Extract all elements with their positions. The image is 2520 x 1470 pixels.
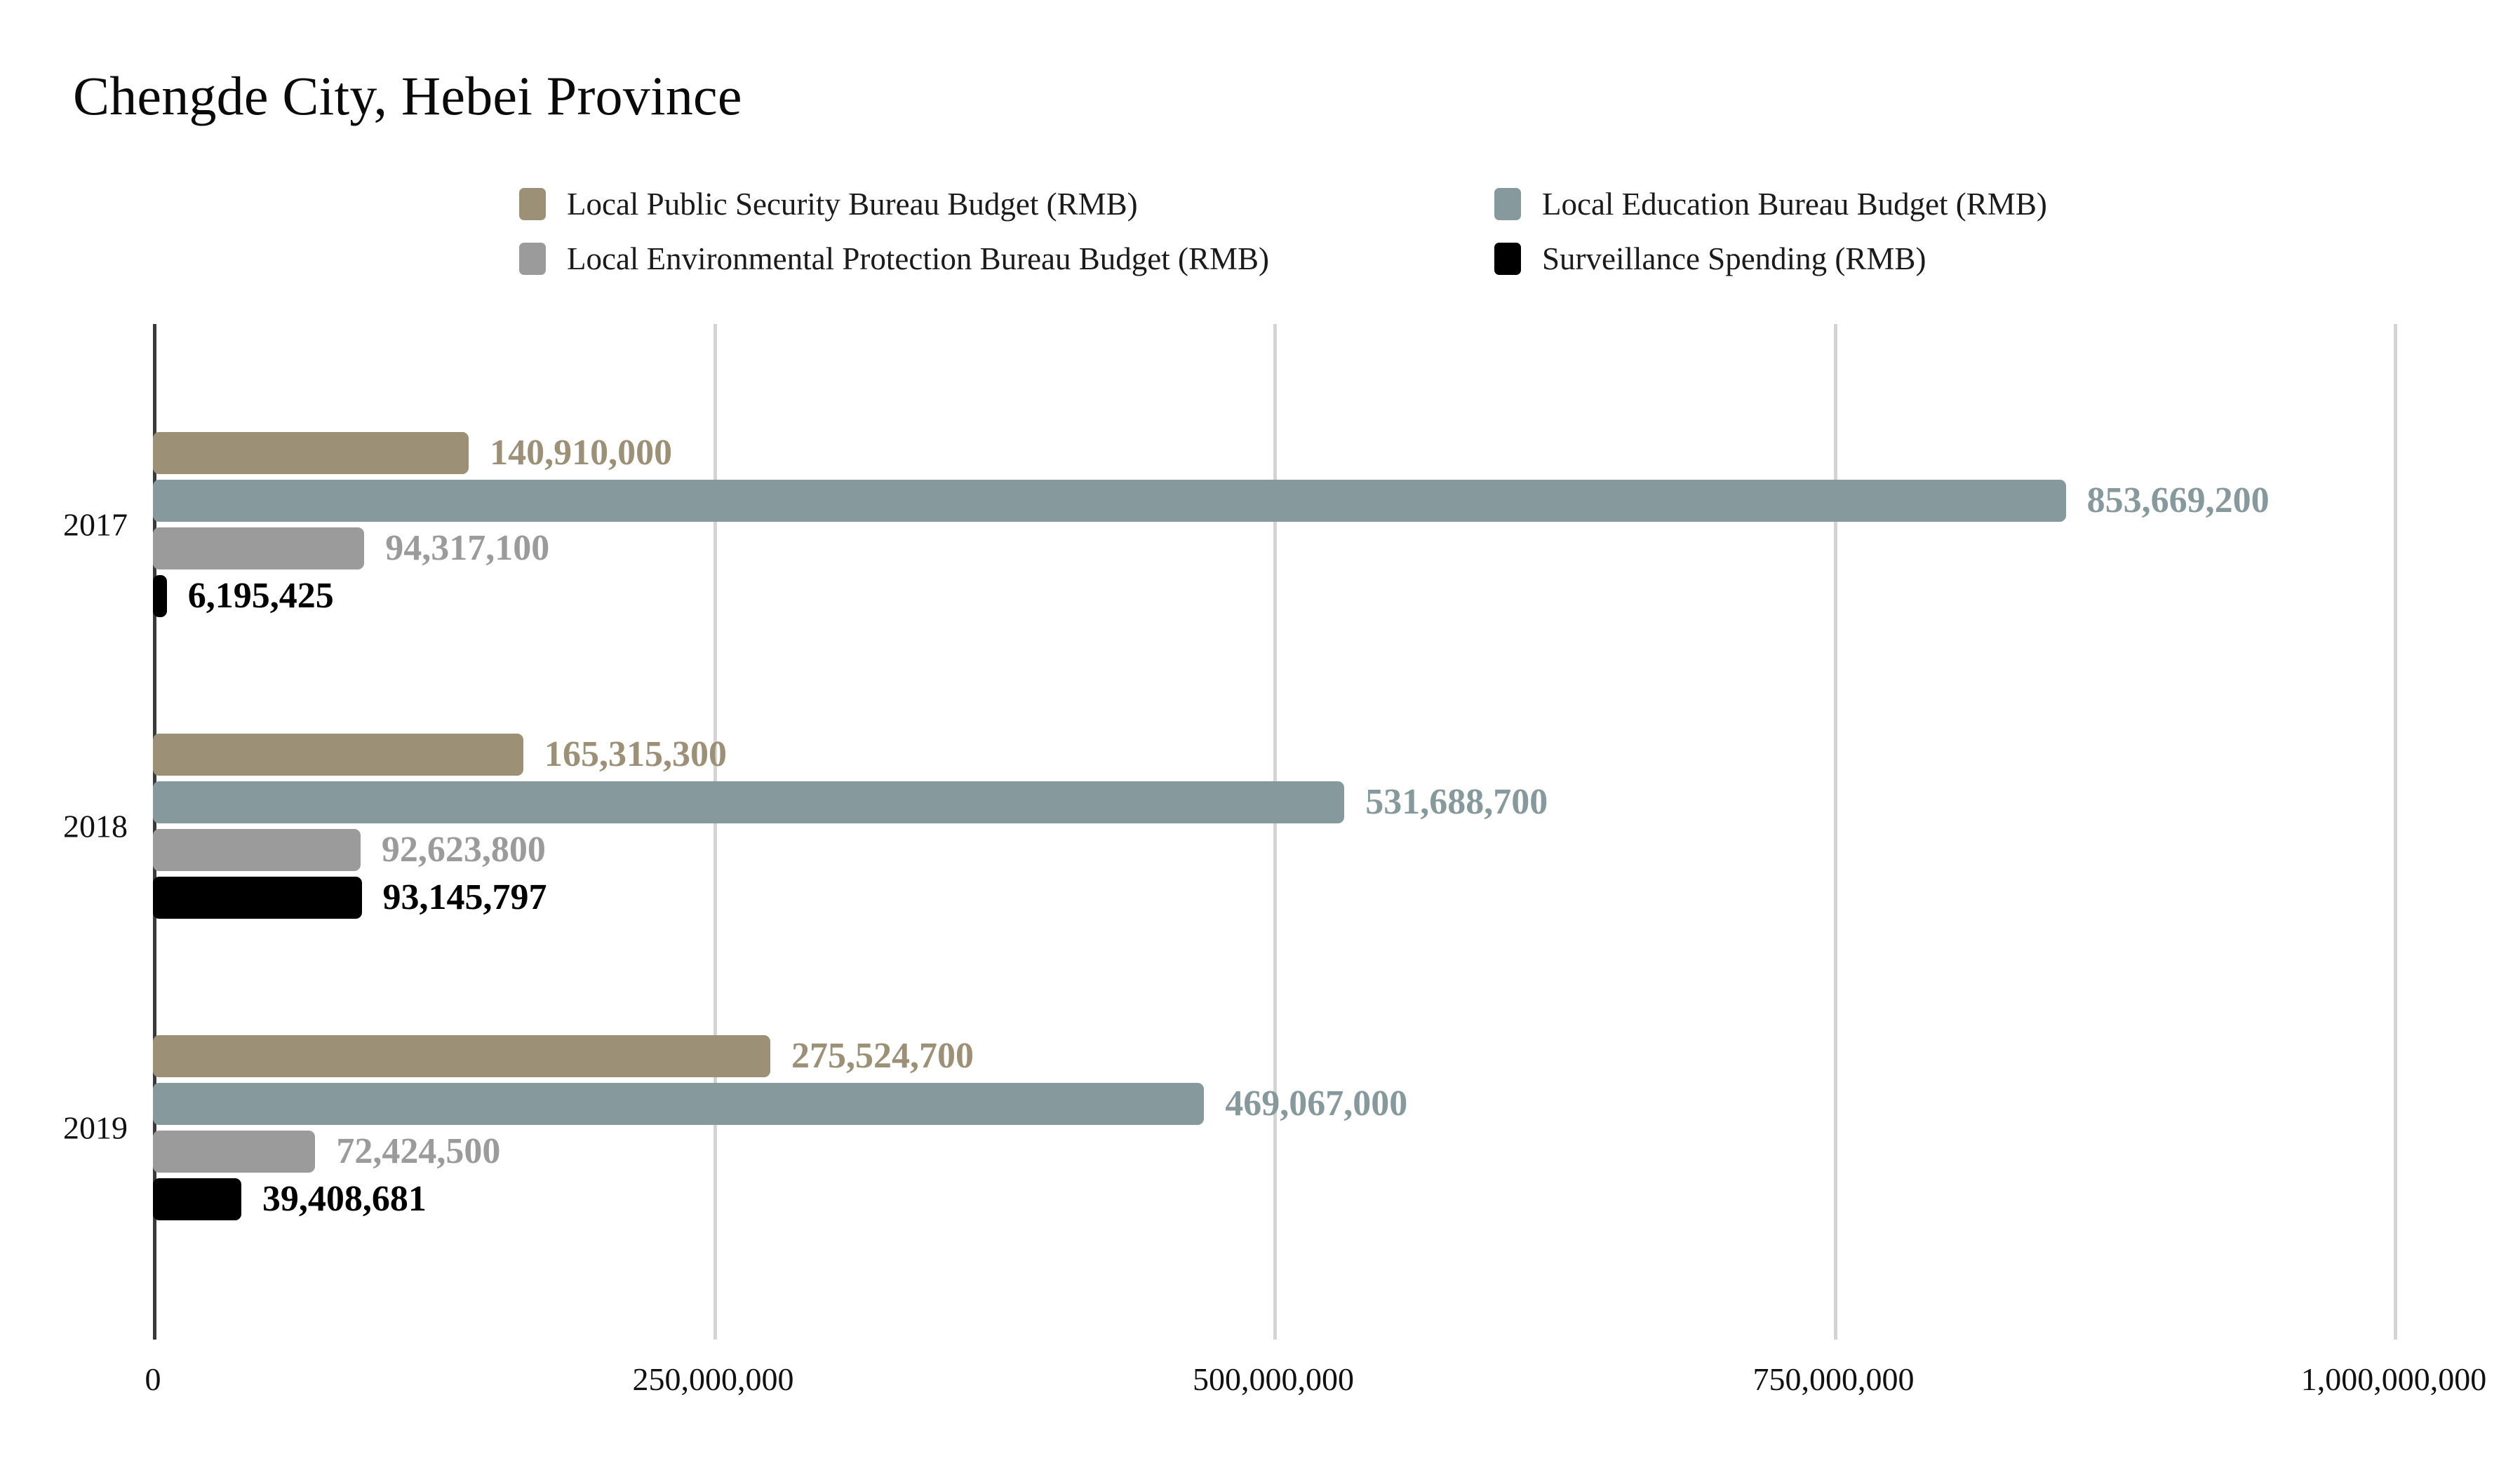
x-axis-tick: 750,000,000 [1753, 1361, 1915, 1398]
bar[interactable] [153, 781, 1344, 823]
bar-row: 275,524,700 [153, 1035, 2489, 1077]
y-axis-tick-2019: 2019 [63, 1110, 128, 1147]
legend-item-label: Local Public Security Bureau Budget (RMB… [567, 189, 1138, 220]
bar-row: 165,315,300 [153, 734, 2489, 776]
x-axis-tick: 0 [145, 1361, 161, 1398]
legend-item-label: Surveillance Spending (RMB) [1542, 243, 1926, 275]
legend-item[interactable]: Local Public Security Bureau Budget (RMB… [519, 188, 1138, 220]
y-axis-tick-labels: 201720182019 [0, 324, 153, 1340]
bar-row: 92,623,800 [153, 829, 2489, 871]
bar[interactable] [153, 1083, 1204, 1125]
bar-value-label: 275,524,700 [791, 1038, 974, 1074]
bar[interactable] [153, 1035, 770, 1077]
x-axis-tick: 500,000,000 [1193, 1361, 1354, 1398]
bar-row: 853,669,200 [153, 480, 2489, 522]
legend-item[interactable]: Local Environmental Protection Bureau Bu… [519, 243, 1269, 275]
bar[interactable] [153, 1178, 241, 1220]
bar-row: 469,067,000 [153, 1083, 2489, 1125]
chart-legend: Local Public Security Bureau Budget (RMB… [519, 188, 2273, 307]
bar-row: 140,910,000 [153, 432, 2489, 474]
bar-value-label: 92,623,800 [382, 832, 546, 868]
bar-row: 531,688,700 [153, 781, 2489, 823]
bar-value-label: 531,688,700 [1365, 784, 1548, 821]
legend-item-label: Local Education Bureau Budget (RMB) [1542, 189, 2047, 220]
bar-value-label: 165,315,300 [544, 736, 727, 773]
bar-value-label: 140,910,000 [490, 435, 672, 471]
bar[interactable] [153, 829, 361, 871]
legend-swatch-icon [1494, 243, 1521, 275]
y-axis-tick-2018: 2018 [63, 808, 128, 845]
bar-value-label: 94,317,100 [385, 530, 549, 567]
bar-row: 39,408,681 [153, 1178, 2489, 1220]
bar[interactable] [153, 432, 469, 474]
x-axis-tick-labels: 0250,000,000500,000,000750,000,0001,000,… [0, 1361, 2520, 1417]
bar[interactable] [153, 527, 364, 569]
bar-row: 94,317,100 [153, 527, 2489, 569]
bar-value-label: 93,145,797 [383, 879, 547, 916]
bar-row: 6,195,425 [153, 575, 2489, 617]
page-title: Chengde City, Hebei Province [73, 69, 742, 123]
plot-area: 140,910,000853,669,20094,317,1006,195,42… [153, 324, 2489, 1340]
bar-value-label: 469,067,000 [1225, 1086, 1407, 1122]
x-axis-tick: 1,000,000,000 [2301, 1361, 2487, 1398]
bar-value-label: 39,408,681 [262, 1181, 427, 1218]
x-axis-tick: 250,000,000 [633, 1361, 794, 1398]
bar[interactable] [153, 877, 362, 919]
bar-value-label: 6,195,425 [188, 578, 334, 614]
legend-item-label: Local Environmental Protection Bureau Bu… [567, 243, 1269, 275]
bar[interactable] [153, 480, 2066, 522]
legend-item[interactable]: Local Education Bureau Budget (RMB) [1494, 188, 2047, 220]
bar-value-label: 853,669,200 [2087, 483, 2270, 519]
bar[interactable] [153, 1131, 315, 1173]
bar-row: 72,424,500 [153, 1131, 2489, 1173]
bar-value-label: 72,424,500 [336, 1133, 500, 1170]
y-axis-tick-2017: 2017 [63, 506, 128, 544]
bar-row: 93,145,797 [153, 877, 2489, 919]
legend-item[interactable]: Surveillance Spending (RMB) [1494, 243, 1926, 275]
bar[interactable] [153, 734, 523, 776]
legend-swatch-icon [1494, 188, 1521, 220]
bar[interactable] [153, 575, 167, 617]
legend-swatch-icon [519, 243, 546, 275]
legend-swatch-icon [519, 188, 546, 220]
